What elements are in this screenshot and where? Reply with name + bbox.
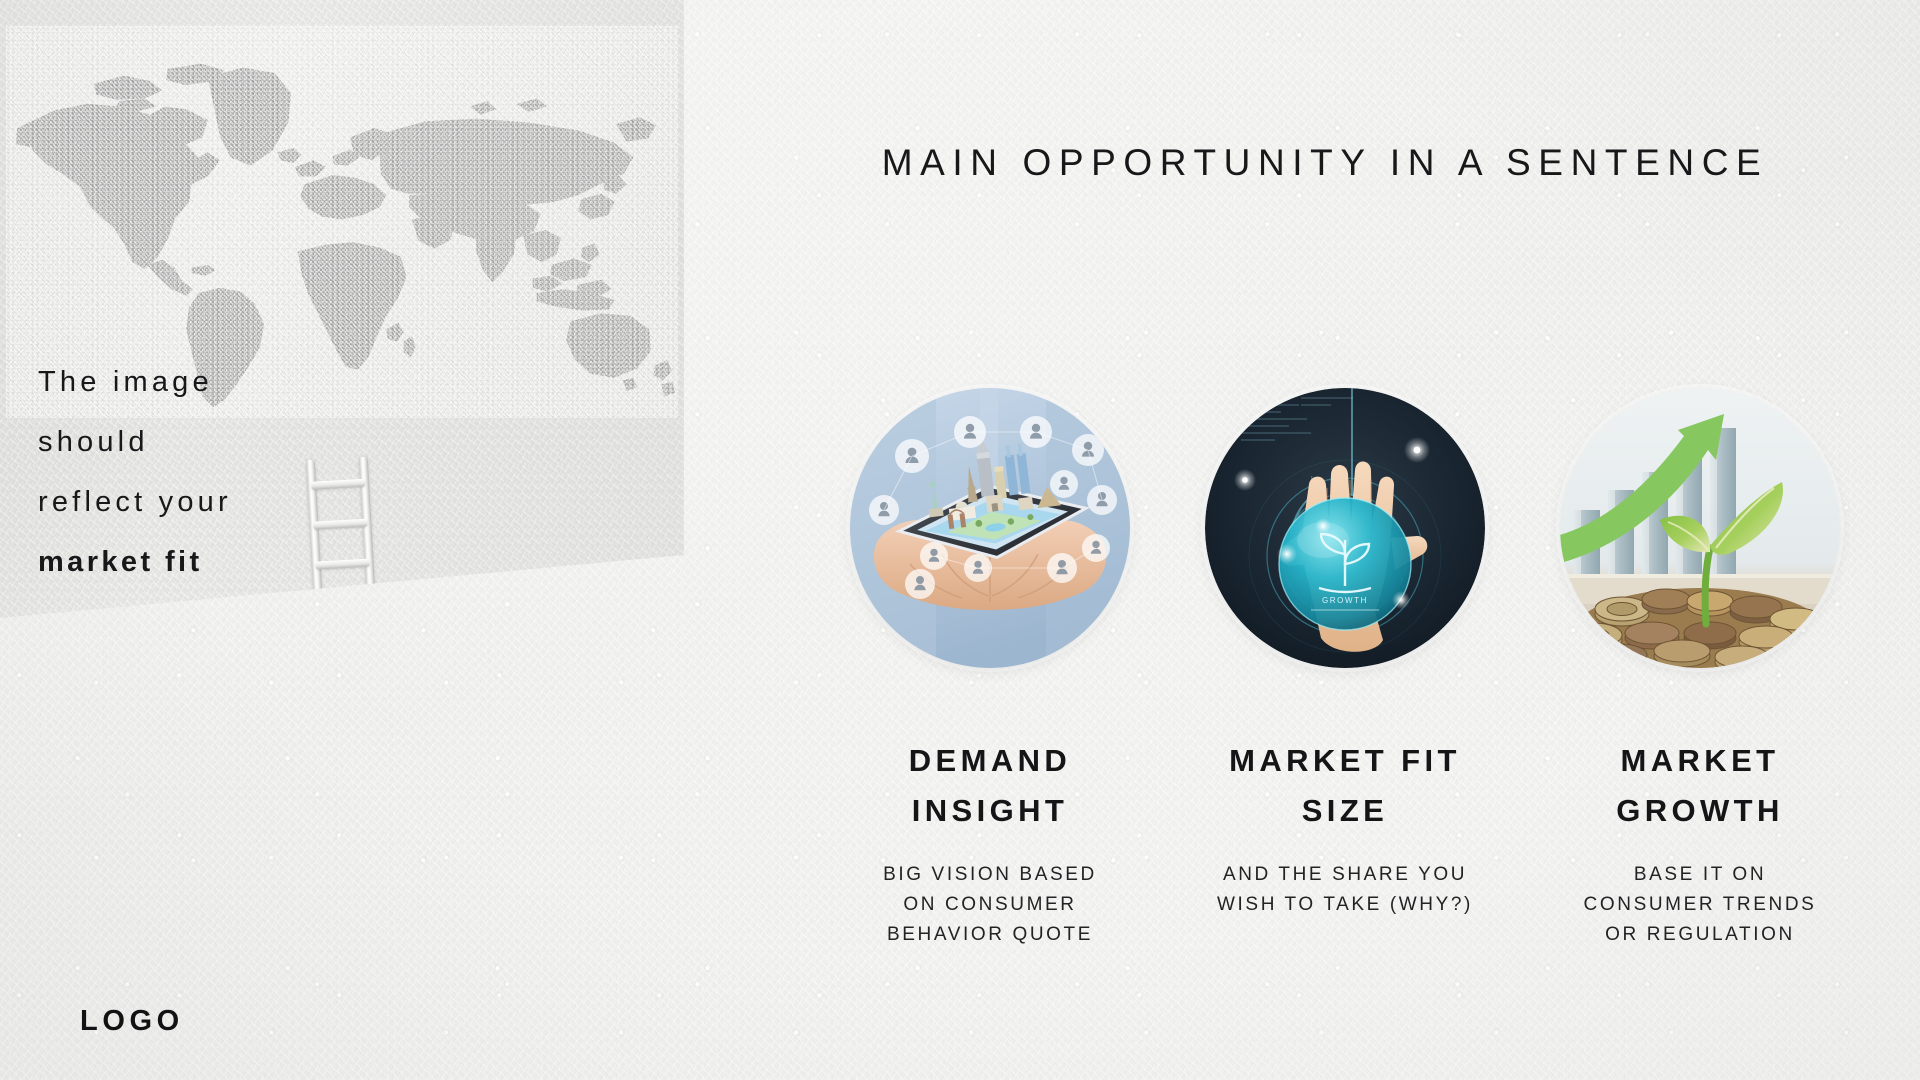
thumbnail-demand-insight bbox=[850, 388, 1130, 668]
column-title-demand-insight: DEMAND INSIGHT bbox=[909, 736, 1071, 836]
thumbnail-market-growth bbox=[1560, 388, 1840, 668]
column-body-demand-insight: BIG VISION BASED ON CONSUMER BEHAVIOR QU… bbox=[883, 860, 1097, 950]
sphere-label: GROWTH bbox=[1322, 596, 1368, 605]
caption-line-3: reflect your bbox=[38, 472, 378, 532]
caption-line-2: should bbox=[38, 412, 378, 472]
left-caption-block: The image should reflect your market fit bbox=[38, 352, 378, 592]
column-title-market-growth: MARKET GROWTH bbox=[1616, 736, 1784, 836]
column-body-market-growth: BASE IT ON CONSUMER TRENDS OR REGULATION bbox=[1584, 860, 1817, 950]
column-market-fit-size: GROWTH MARKET FIT SIZE AND THE SHARE YOU… bbox=[1195, 388, 1495, 950]
column-body-market-fit-size: AND THE SHARE YOU WISH TO TAKE (WHY?) bbox=[1217, 860, 1473, 920]
page-title: MAIN OPPORTUNITY IN A SENTENCE bbox=[820, 142, 1830, 184]
caption-line-1: The image bbox=[38, 352, 378, 412]
column-title-market-fit-size: MARKET FIT SIZE bbox=[1229, 736, 1461, 836]
logo-placeholder: LOGO bbox=[80, 1005, 184, 1038]
caption-line-4-market-fit: market fit bbox=[38, 532, 378, 592]
column-demand-insight: DEMAND INSIGHT BIG VISION BASED ON CONSU… bbox=[840, 388, 1140, 950]
thumbnail-market-fit-size: GROWTH bbox=[1205, 388, 1485, 668]
slide-canvas: The image should reflect your market fit… bbox=[0, 0, 1920, 1080]
column-market-growth: MARKET GROWTH BASE IT ON CONSUMER TRENDS… bbox=[1550, 388, 1850, 950]
feature-columns: DEMAND INSIGHT BIG VISION BASED ON CONSU… bbox=[840, 388, 1850, 950]
